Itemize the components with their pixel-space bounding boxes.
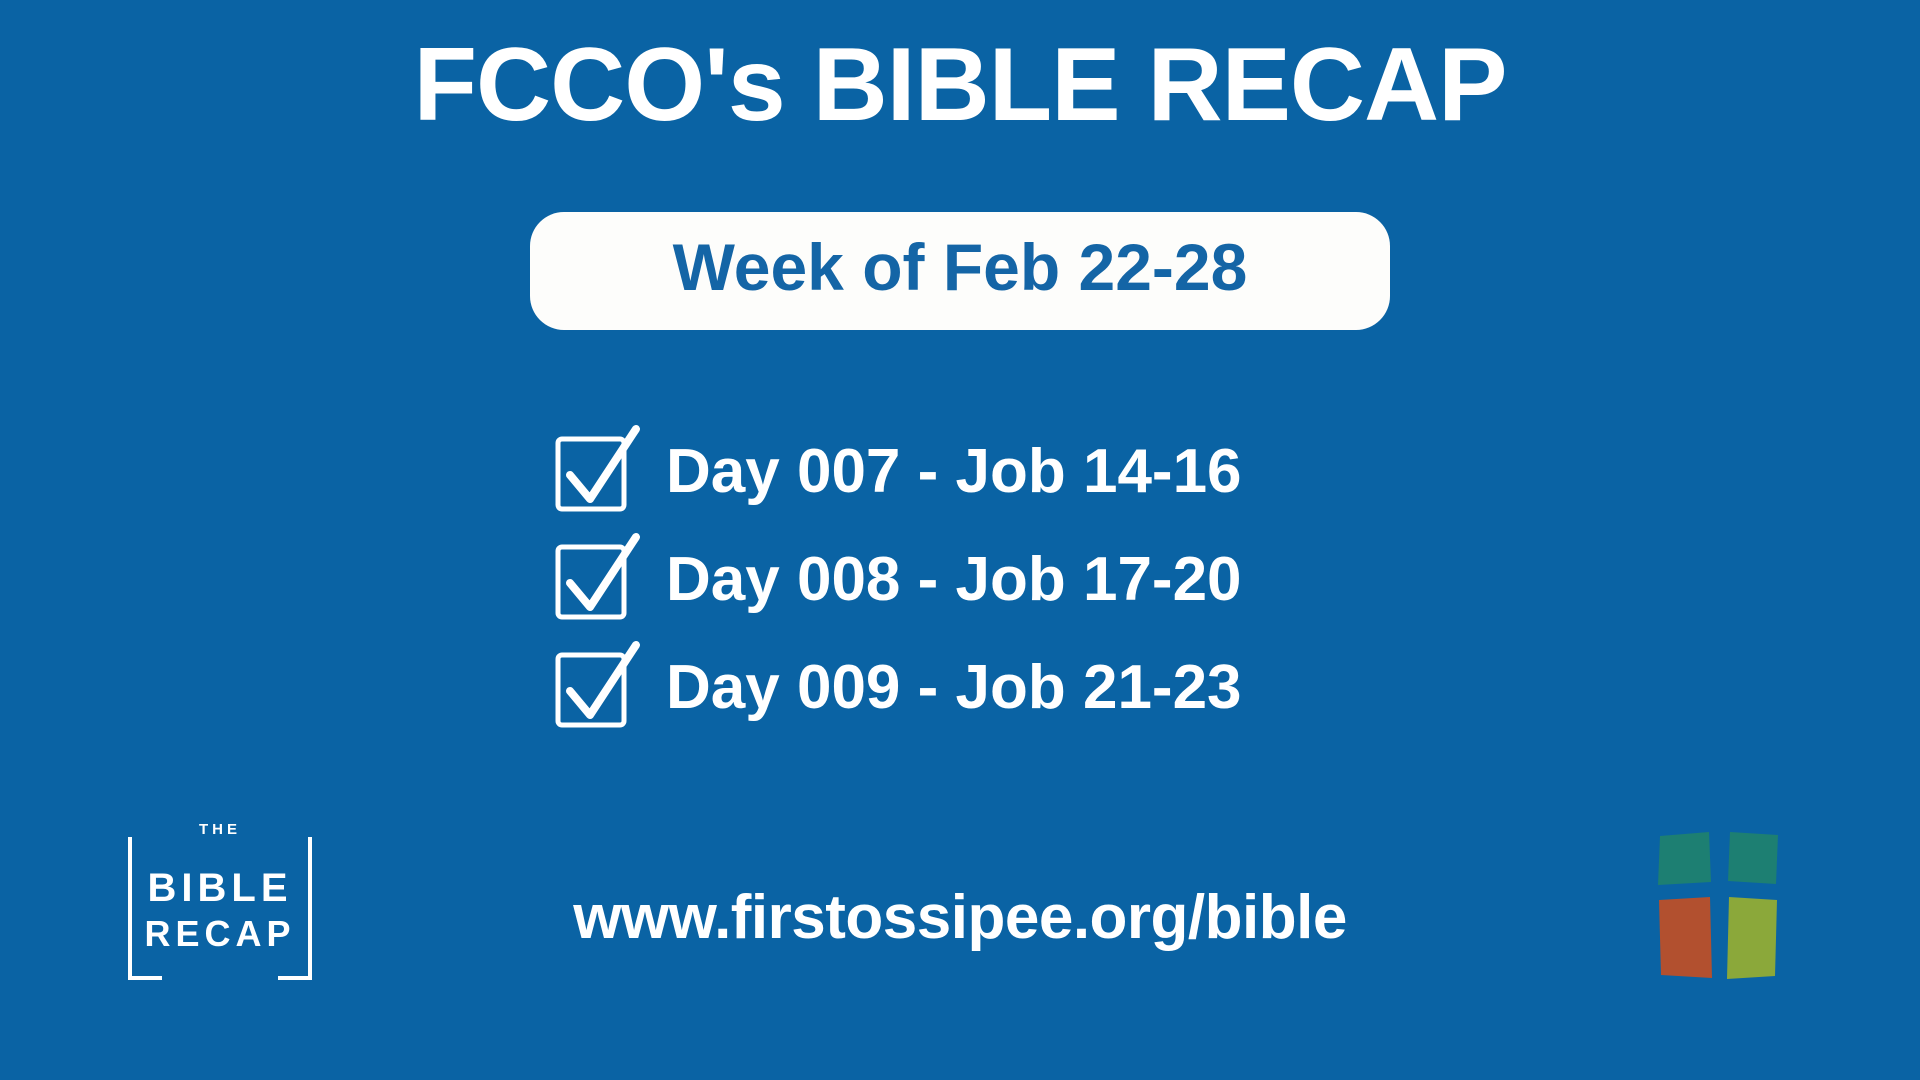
page-title: FCCO's BIBLE RECAP [0,28,1920,142]
list-item[interactable]: Day 009 - Job 21-23 [552,634,1242,742]
week-badge: Week of Feb 22-28 [530,212,1390,330]
logo-text-the: THE [128,822,312,837]
list-item-label: Day 007 - Job 14-16 [666,441,1242,503]
list-item-label: Day 009 - Job 21-23 [666,657,1242,719]
week-badge-container: Week of Feb 22-28 [0,212,1920,330]
church-cross-logo [1654,826,1782,984]
checkbox-checked-icon[interactable] [552,541,630,619]
list-item[interactable]: Day 008 - Job 17-20 [552,526,1242,634]
checkbox-checked-icon[interactable] [552,649,630,727]
list-item[interactable]: Day 007 - Job 14-16 [552,418,1242,526]
list-item-label: Day 008 - Job 17-20 [666,549,1242,611]
reading-checklist: Day 007 - Job 14-16 Day 008 - Job 17-20 … [0,418,1920,742]
website-url[interactable]: www.firstossipee.org/bible [0,882,1920,953]
checkbox-checked-icon[interactable] [552,433,630,511]
